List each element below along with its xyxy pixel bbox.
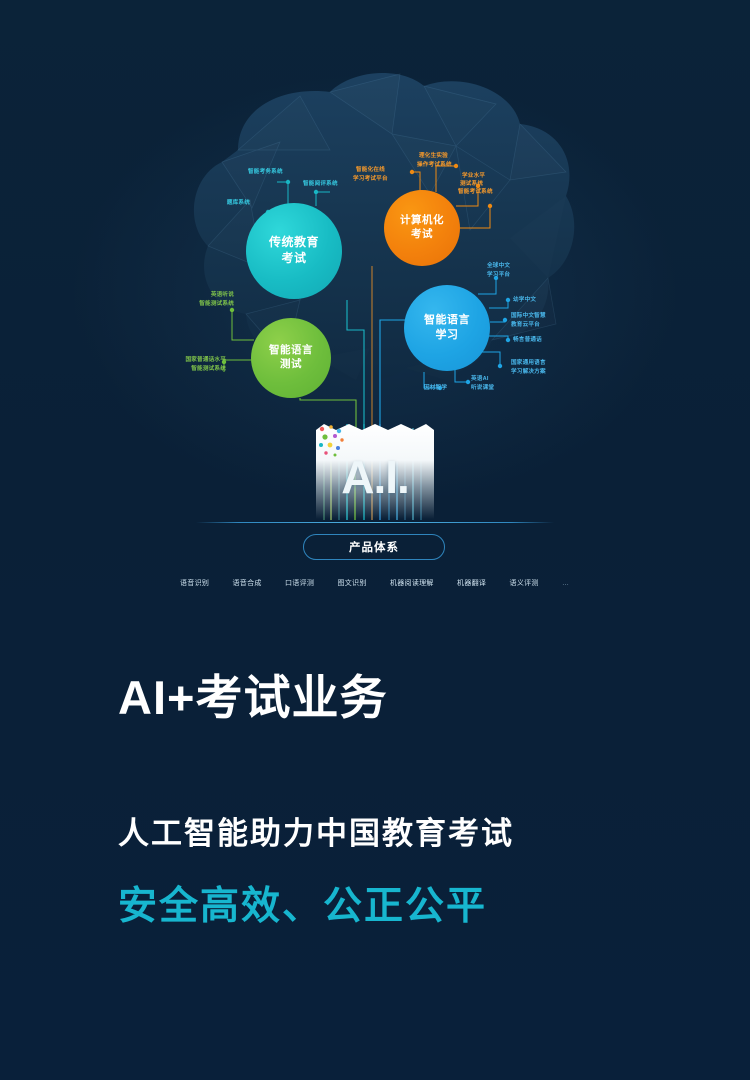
leaf-intl-chinese-cloud-line2[interactable]: 教育云平台 bbox=[511, 321, 540, 329]
leaf-academic-level-exam-line2[interactable]: 测试系统 bbox=[460, 180, 483, 188]
keyword-list: 语音识别 语音合成 口语评测 图文识别 机器阅读理解 机器翻译 语义评测 … bbox=[180, 578, 570, 588]
leaf-english-ai-class-line1[interactable]: 英语AI bbox=[471, 375, 489, 383]
leaf-yincai-zhixue[interactable]: 因材智学 bbox=[424, 384, 447, 392]
ai-wordmark-block: A.I. bbox=[316, 424, 434, 519]
confetti-icon bbox=[316, 424, 346, 458]
hero-diagram: 传统教育 考试 计算机化 考试 智能语言 学习 智能语言 测试 题库系统 智能考… bbox=[0, 0, 750, 640]
divider-rule bbox=[196, 522, 554, 523]
leaf-putonghua-level-test-line1[interactable]: 国家普通话水平 bbox=[176, 356, 226, 364]
product-system-pill[interactable]: 产品体系 bbox=[303, 534, 445, 560]
node-label-line2: 学习 bbox=[436, 328, 459, 343]
leaf-intl-chinese-cloud-line1[interactable]: 国际中文智慧 bbox=[511, 312, 546, 320]
keyword-item[interactable]: 机器阅读理解 bbox=[390, 578, 434, 588]
node-intelligent-language-test[interactable]: 智能语言 测试 bbox=[251, 318, 331, 398]
leaf-national-language-solution-line2[interactable]: 学习解决方案 bbox=[511, 368, 546, 376]
subheadline: 人工智能助力中国教育考试 bbox=[118, 808, 678, 853]
node-label-line1: 计算机化 bbox=[400, 214, 444, 228]
leaf-putonghua-level-test-line2[interactable]: 智能测试系统 bbox=[176, 365, 226, 373]
keyword-item[interactable]: 语音合成 bbox=[232, 578, 261, 588]
leaf-national-language-solution-line1[interactable]: 国家通用语言 bbox=[511, 359, 546, 367]
tagline: 安全高效、公正公平 bbox=[118, 875, 678, 931]
copy-block: AI+考试业务 人工智能助力中国教育考试 安全高效、公正公平 bbox=[118, 672, 678, 931]
keyword-item[interactable]: 语音识别 bbox=[180, 578, 209, 588]
ai-wordmark: A.I. bbox=[316, 450, 434, 504]
page-title: AI+考试业务 bbox=[118, 672, 678, 724]
keyword-item[interactable]: 图文识别 bbox=[337, 578, 366, 588]
node-computer-based-test[interactable]: 计算机化 考试 bbox=[384, 190, 460, 266]
leaf-english-listening-speaking-line2[interactable]: 智能测试系统 bbox=[186, 300, 234, 308]
node-label-line2: 考试 bbox=[281, 251, 306, 267]
keyword-item[interactable]: 口语评测 bbox=[285, 578, 314, 588]
node-traditional-education-exam[interactable]: 传统教育 考试 bbox=[246, 203, 342, 299]
node-label-line1: 智能语言 bbox=[424, 313, 470, 328]
keyword-item[interactable]: 语义评测 bbox=[510, 578, 539, 588]
leaf-english-ai-class-line2[interactable]: 听说课堂 bbox=[471, 384, 494, 392]
leaf-smart-exam-system[interactable]: 智能考试系统 bbox=[458, 188, 493, 196]
leaf-changyan-putonghua[interactable]: 畅言普通话 bbox=[513, 336, 542, 344]
leaf-physics-chemistry-lab-exam-line2[interactable]: 操作考试系统 bbox=[417, 161, 452, 169]
leaf-smart-scoring-system[interactable]: 智能阅评系统 bbox=[303, 180, 338, 188]
leaf-english-listening-speaking-line1[interactable]: 英语听说 bbox=[186, 291, 234, 299]
leaf-kids-chinese[interactable]: 幼学中文 bbox=[513, 296, 536, 304]
node-label-line1: 传统教育 bbox=[269, 235, 319, 251]
keyword-ellipsis: … bbox=[562, 580, 570, 587]
leaf-global-chinese-platform-line1[interactable]: 全球中文 bbox=[487, 262, 510, 270]
node-intelligent-language-learning[interactable]: 智能语言 学习 bbox=[404, 285, 490, 371]
leaf-smart-invigilation-system[interactable]: 智能考务系统 bbox=[248, 168, 283, 176]
leaf-global-chinese-platform-line2[interactable]: 学习平台 bbox=[487, 271, 510, 279]
leaf-online-learning-exam-platform-line2[interactable]: 学习考试平台 bbox=[353, 175, 388, 183]
keyword-item[interactable]: 机器翻译 bbox=[457, 578, 486, 588]
leaf-academic-level-exam-line1[interactable]: 学业水平 bbox=[462, 172, 485, 180]
node-label-line2: 考试 bbox=[411, 228, 433, 242]
node-label-line2: 测试 bbox=[280, 358, 302, 372]
leaf-online-learning-exam-platform-line1[interactable]: 智能化在线 bbox=[356, 166, 385, 174]
page-root: 传统教育 考试 计算机化 考试 智能语言 学习 智能语言 测试 题库系统 智能考… bbox=[0, 0, 750, 1080]
leaf-item-bank-system[interactable]: 题库系统 bbox=[206, 199, 250, 207]
leaf-physics-chemistry-lab-exam-line1[interactable]: 理化生实验 bbox=[419, 152, 448, 160]
node-label-line1: 智能语言 bbox=[269, 344, 313, 358]
